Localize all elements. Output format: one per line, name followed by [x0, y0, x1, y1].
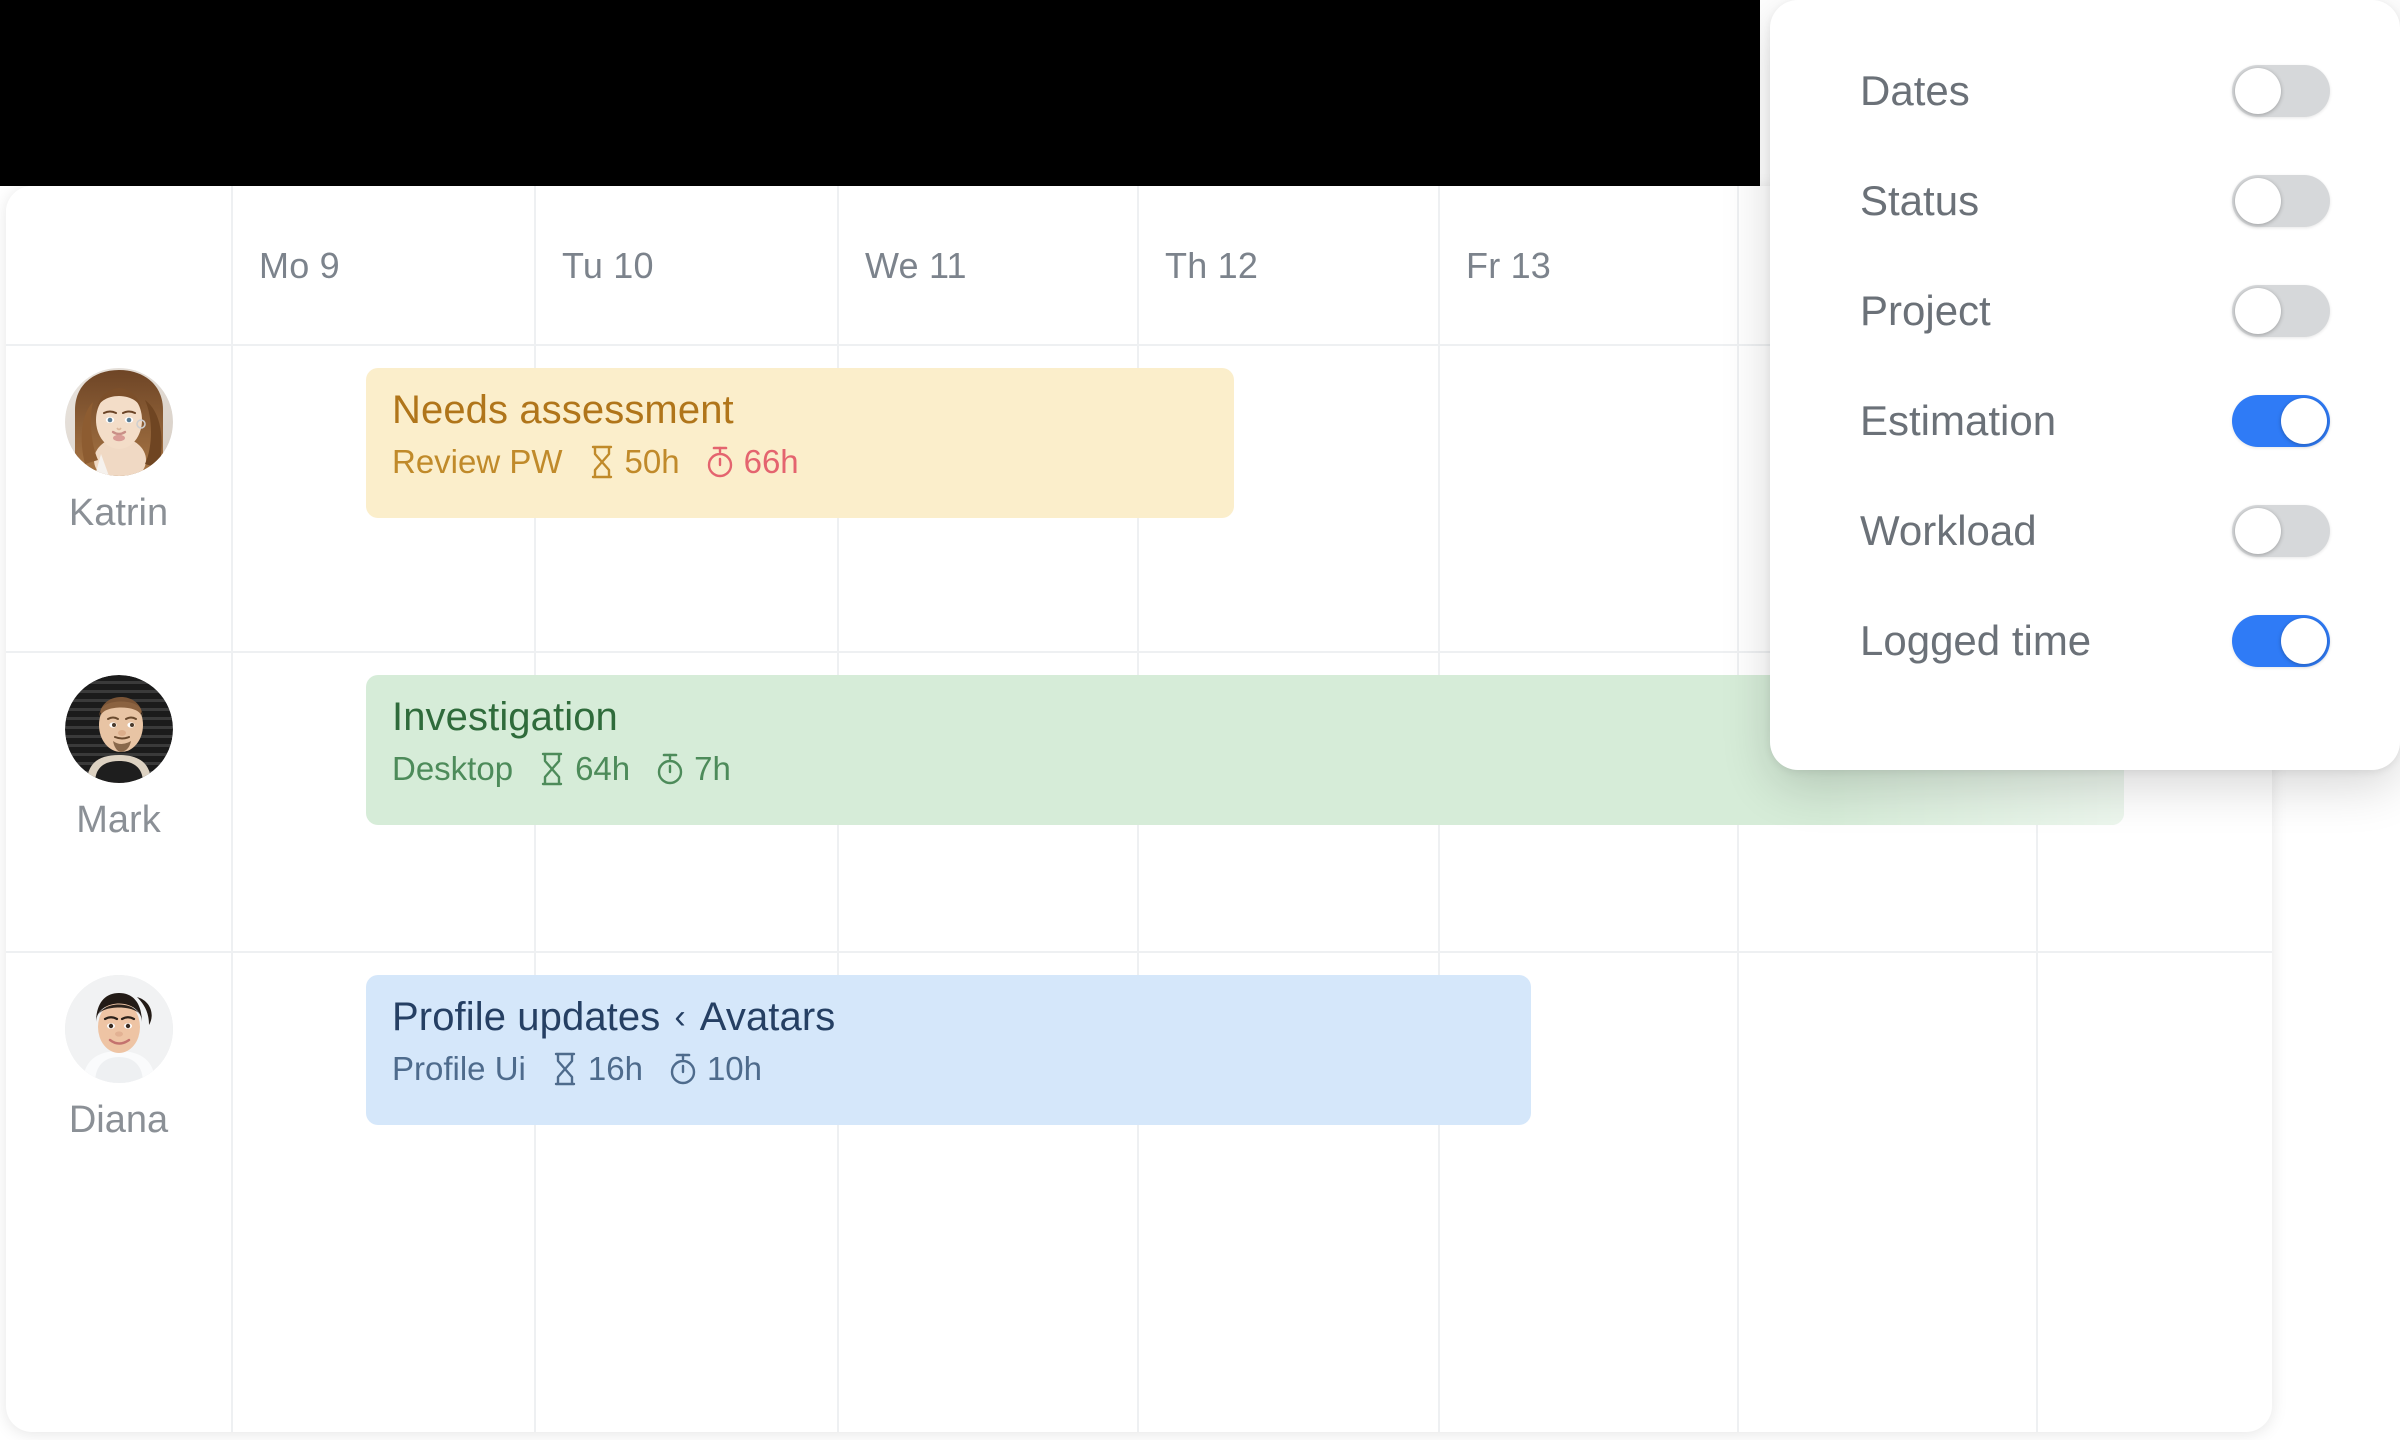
day-header-tu[interactable]: Tu 10	[534, 186, 837, 346]
toggle-knob	[2281, 618, 2327, 664]
setting-row-workload[interactable]: Workload	[1770, 476, 2400, 586]
task-logged-value: 10h	[707, 1052, 762, 1085]
task-logged-time: 10h	[669, 1052, 762, 1086]
day-header-mo[interactable]: Mo 9	[231, 186, 534, 346]
task-title-main: Profile updates	[392, 995, 660, 1039]
person-cell[interactable]: Diana	[6, 953, 231, 1139]
hourglass-icon	[539, 752, 565, 786]
day-header-label: Fr 13	[1466, 245, 1551, 287]
task-meta: Profile Ui 16h	[392, 1052, 1505, 1086]
stopwatch-icon	[656, 752, 684, 786]
task-logged-value: 7h	[694, 752, 731, 785]
column-settings-popover: Dates Status Project Estimation Workload	[1770, 0, 2400, 770]
setting-row-logged-time[interactable]: Logged time	[1770, 586, 2400, 696]
task-title: Profile updates‹Avatars	[392, 995, 1505, 1040]
task-project: Desktop	[392, 752, 513, 785]
avatar-mark	[65, 675, 173, 783]
task-meta: Review PW 50h	[392, 445, 1208, 479]
task-logged-value: 66h	[744, 445, 799, 478]
day-header-th[interactable]: Th 12	[1137, 186, 1438, 346]
stopwatch-icon	[669, 1052, 697, 1086]
person-name: Mark	[76, 801, 160, 839]
screenshot-stage: Mo 9 Tu 10 We 11 Th 12 Fr 13	[0, 0, 2400, 1440]
setting-label: Workload	[1860, 510, 2037, 552]
setting-row-status[interactable]: Status	[1770, 146, 2400, 256]
task-estimation: 50h	[589, 445, 680, 479]
task-logged-time: 66h	[706, 445, 799, 479]
task-title-suffix: Avatars	[700, 995, 836, 1039]
day-header-label: Mo 9	[259, 245, 340, 287]
day-header-fr[interactable]: Fr 13	[1438, 186, 1737, 346]
day-header-we[interactable]: We 11	[837, 186, 1137, 346]
toggle-knob	[2281, 398, 2327, 444]
toggle-knob	[2235, 68, 2281, 114]
task-title: Needs assessment	[392, 388, 1208, 433]
task-project: Profile Ui	[392, 1052, 526, 1085]
person-cell[interactable]: Katrin	[6, 346, 231, 532]
avatar-katrin	[65, 368, 173, 476]
task-estimation-value: 50h	[625, 445, 680, 478]
task-estimation-value: 16h	[588, 1052, 643, 1085]
chevron-left-icon: ‹	[674, 998, 685, 1036]
avatar-diana	[65, 975, 173, 1083]
task-project: Review PW	[392, 445, 563, 478]
hourglass-icon	[552, 1052, 578, 1086]
toggle-knob	[2235, 178, 2281, 224]
task-logged-time: 7h	[656, 752, 731, 786]
person-cell[interactable]: Mark	[6, 653, 231, 839]
setting-row-dates[interactable]: Dates	[1770, 36, 2400, 146]
task-estimation: 64h	[539, 752, 630, 786]
setting-label: Dates	[1860, 70, 1970, 112]
setting-label: Estimation	[1860, 400, 2056, 442]
day-header-label: We 11	[865, 245, 967, 287]
task-card[interactable]: Profile updates‹Avatars Profile Ui 16h	[366, 975, 1531, 1125]
toggle-knob	[2235, 508, 2281, 554]
hourglass-icon	[589, 445, 615, 479]
toggle-dates[interactable]	[2232, 65, 2330, 117]
person-name: Katrin	[69, 494, 168, 532]
setting-label: Project	[1860, 290, 1991, 332]
task-estimation-value: 64h	[575, 752, 630, 785]
setting-label: Logged time	[1860, 620, 2091, 662]
day-header-label: Tu 10	[562, 245, 654, 287]
setting-label: Status	[1860, 180, 1979, 222]
task-card[interactable]: Needs assessment Review PW 50h	[366, 368, 1234, 518]
setting-row-estimation[interactable]: Estimation	[1770, 366, 2400, 476]
task-estimation: 16h	[552, 1052, 643, 1086]
person-name: Diana	[69, 1101, 168, 1139]
toggle-status[interactable]	[2232, 175, 2330, 227]
schedule-row: Diana Profile updates‹Avatars Profile Ui	[6, 953, 2272, 1432]
toggle-estimation[interactable]	[2232, 395, 2330, 447]
day-header-label: Th 12	[1165, 245, 1258, 287]
stopwatch-icon	[706, 445, 734, 479]
toggle-logged-time[interactable]	[2232, 615, 2330, 667]
toggle-workload[interactable]	[2232, 505, 2330, 557]
toggle-project[interactable]	[2232, 285, 2330, 337]
toggle-knob	[2235, 288, 2281, 334]
setting-row-project[interactable]: Project	[1770, 256, 2400, 366]
